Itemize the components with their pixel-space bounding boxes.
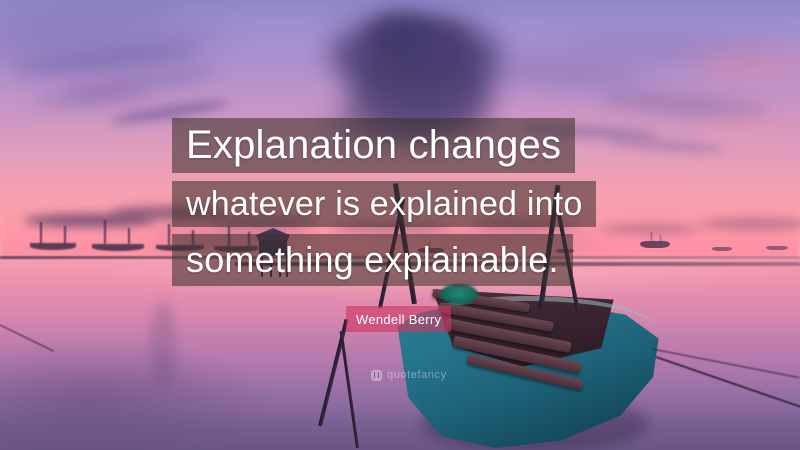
quote-line-1: Explanation changes xyxy=(172,118,575,173)
quote-line-2: whatever is explained into xyxy=(172,181,596,227)
quote-line-3: something explainable. xyxy=(172,234,573,286)
quote-poster: Explanation changes whatever is explaine… xyxy=(0,0,800,450)
quotefancy-logo-icon xyxy=(371,370,382,381)
watermark: quotefancy xyxy=(371,369,447,381)
quote-overlay: Explanation changes whatever is explaine… xyxy=(0,0,800,450)
author-attribution: Wendell Berry xyxy=(346,306,451,332)
watermark-label: quotefancy xyxy=(387,369,447,381)
